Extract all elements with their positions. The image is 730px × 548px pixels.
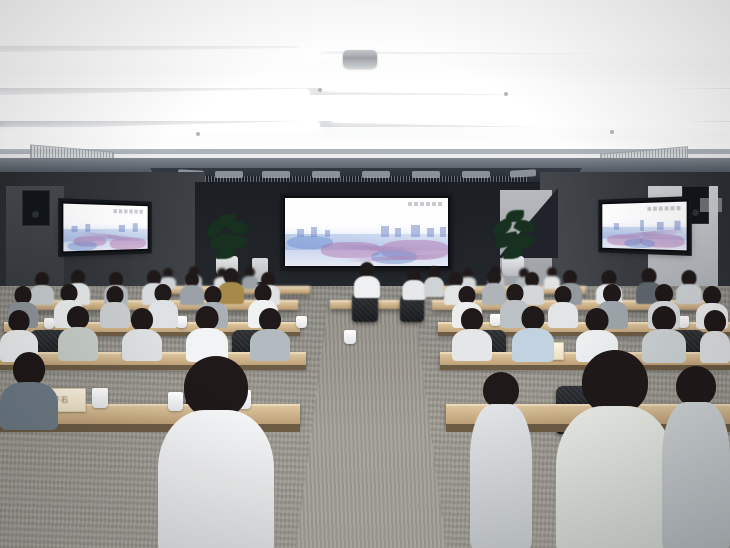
ceiling-fixture-dot [318,88,322,92]
soffit-light-slot [412,171,440,178]
soffit-light-slot [262,171,290,178]
ceiling-fixture-dot [196,132,200,136]
soffit-light-slot [362,171,390,178]
cup [344,330,356,344]
wall-speaker-icon [22,190,50,226]
ceiling [0,0,730,178]
soffit-light-slot [510,169,536,177]
potted-plant-left [204,212,250,262]
conference-room-photo: 张建华 中子石 [0,0,730,548]
screen-watermark [113,209,142,214]
potted-plant-right [490,210,536,262]
ceiling-fixture-dot [610,130,614,134]
ceiling-light-band [0,0,730,46]
soffit-light-slot [462,171,490,178]
cup [44,318,54,329]
screen-watermark [408,202,442,206]
ceiling-fixture-dot [504,92,508,96]
smoke-detector-icon [343,50,377,68]
cup [296,316,307,328]
right-led-screen [601,199,689,252]
soffit-light-slot [312,171,340,178]
cup [92,388,108,408]
left-led-screen [61,201,149,253]
soffit-light-slot [215,171,243,178]
exit-sign-icon [700,198,722,212]
main-led-screen [283,196,450,268]
screen-watermark [648,206,681,211]
